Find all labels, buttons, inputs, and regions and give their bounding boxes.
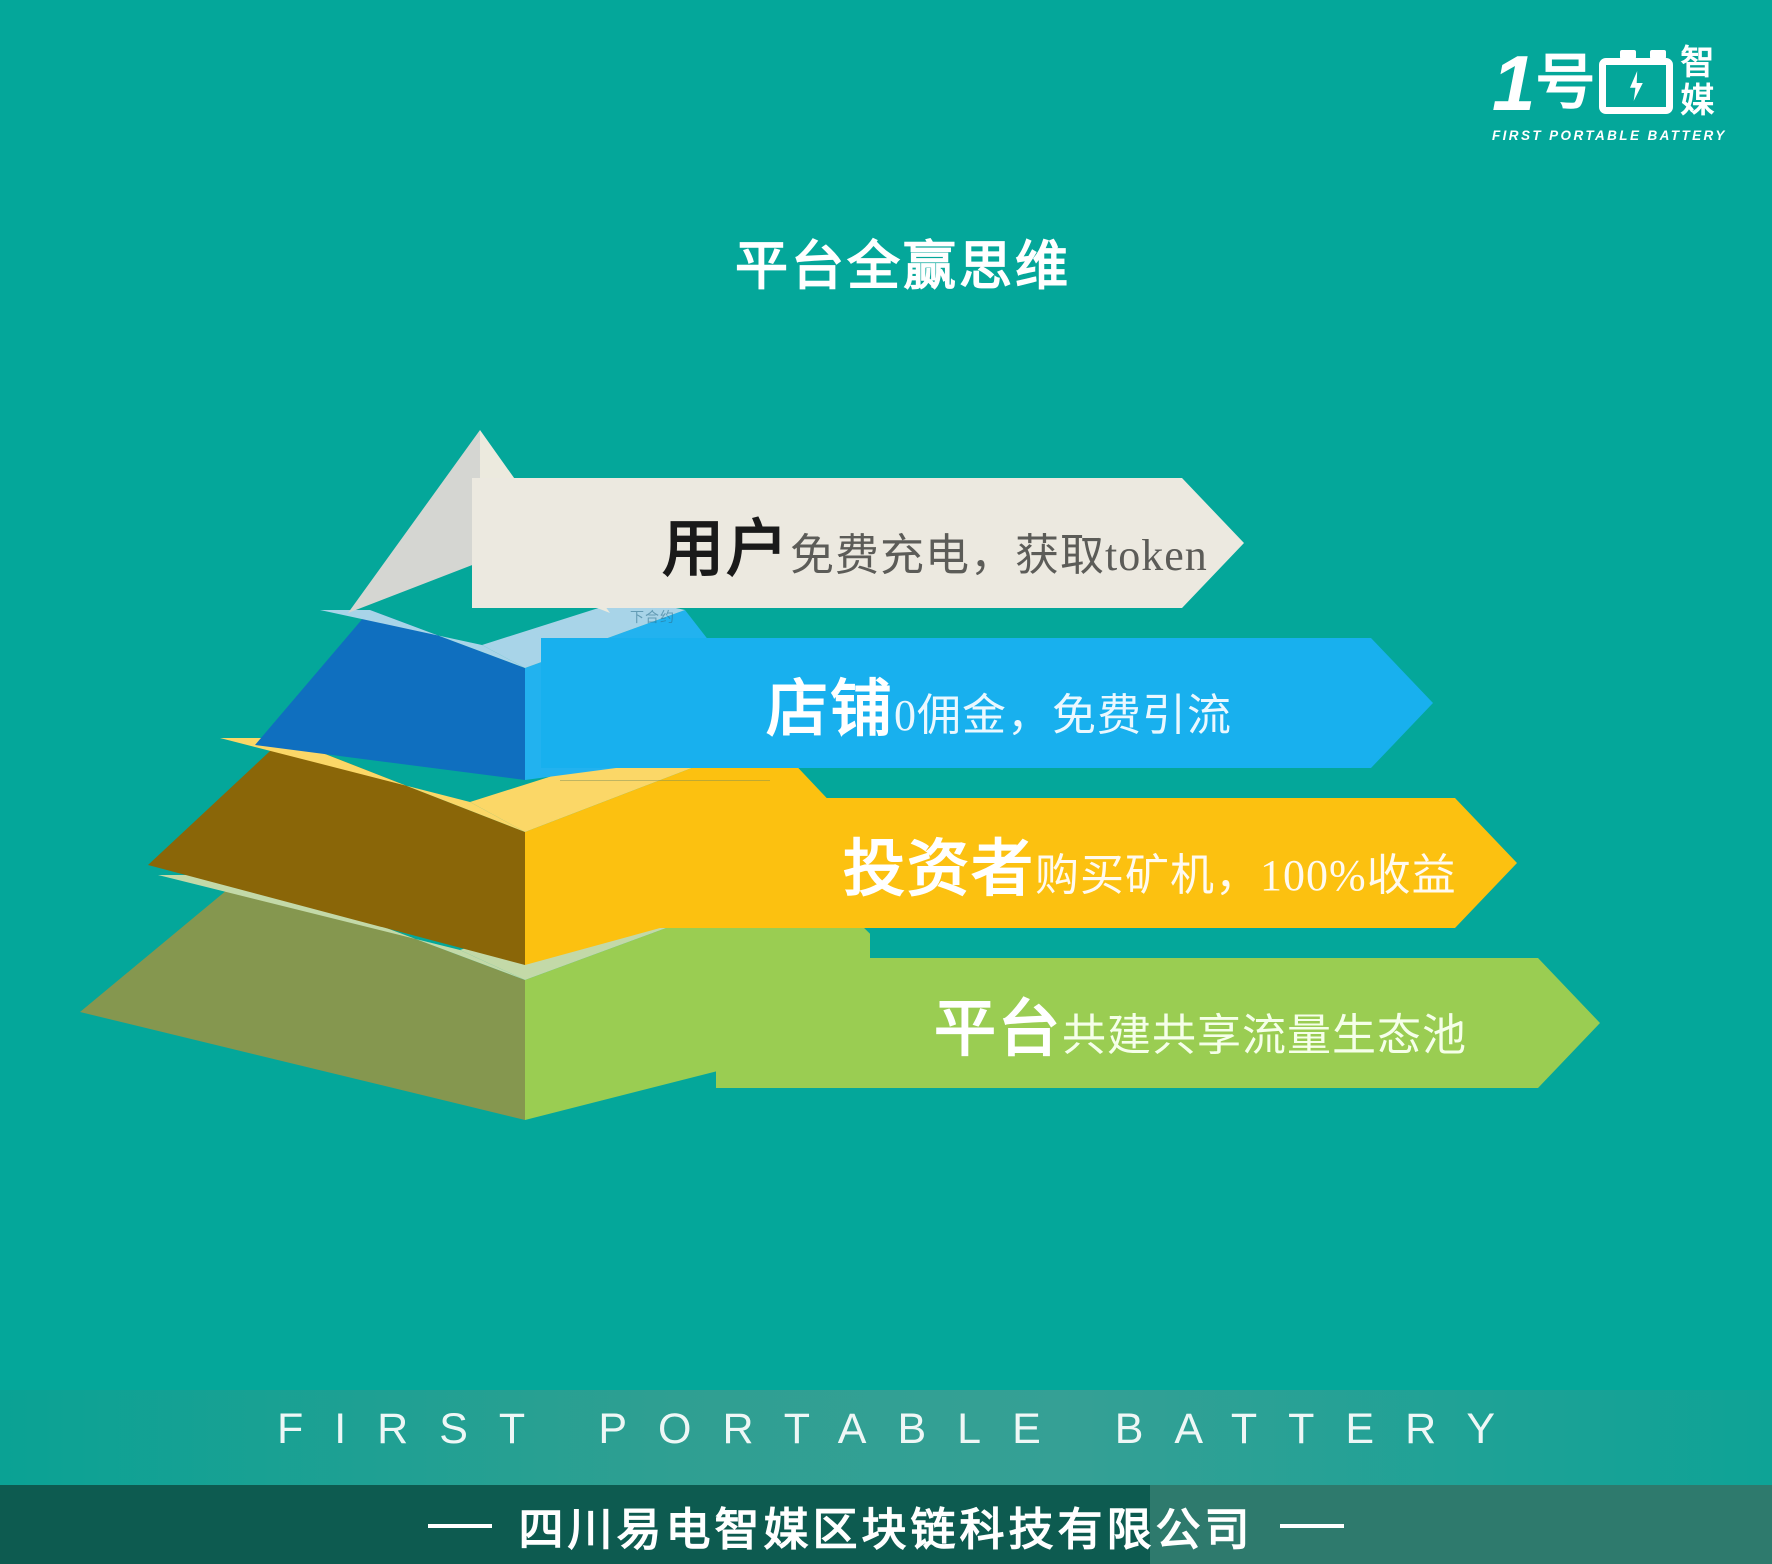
logo-mark-row: 1 号 智 媒 [1492, 46, 1722, 124]
bolt-icon [1628, 71, 1644, 101]
page-title: 平台全赢思维 [735, 224, 1071, 300]
level-banner-platform-text: 平台 共建共享流量生态池 [934, 978, 1467, 1068]
level-detail-shop: 0佣金，免费引流 [894, 679, 1232, 743]
slide-canvas: 1 号 智 媒 FIRST PORTABLE BATTERY 平台全赢思维 [0, 0, 1772, 1564]
divider-right [1280, 1524, 1344, 1528]
pyramid-artifact-line [560, 780, 770, 781]
level-banner-platform[interactable]: 平台 共建共享流量生态池 [716, 958, 1600, 1088]
level-banner-investor[interactable]: 投资者 购买矿机，100%收益 [628, 798, 1517, 928]
level-label-investor: 投资者 [843, 818, 1035, 908]
level-detail-investor: 购买矿机，100%收益 [1035, 839, 1457, 903]
logo-tagline: FIRST PORTABLE BATTERY [1492, 128, 1722, 143]
logo-char-hao: 号 [1535, 46, 1595, 120]
logo-char-zhi: 智 [1680, 44, 1714, 82]
level-banner-shop[interactable]: 店铺 0佣金，免费引流 [541, 638, 1433, 768]
brand-logo: 1 号 智 媒 FIRST PORTABLE BATTERY [1492, 46, 1722, 156]
level-label-shop: 店铺 [766, 658, 894, 748]
pyramid-apex-left-face [348, 430, 480, 613]
company-name: 四川易电智媒区块链科技有限公司 [518, 1493, 1253, 1558]
divider-left [428, 1524, 492, 1528]
level-detail-platform: 共建共享流量生态池 [1062, 999, 1467, 1063]
level-banner-user-text: 用户 免费充电，获取token [662, 498, 1208, 588]
footer-tagline: FIRST PORTABLE BATTERY [0, 1405, 1772, 1454]
level-detail-user: 免费充电，获取token [790, 519, 1208, 583]
pyramid-artifact-text: 下合约 [630, 607, 675, 627]
logo-numeral: 1 [1492, 46, 1533, 120]
battery-bolt-icon [1599, 58, 1673, 114]
level-label-platform: 平台 [934, 978, 1062, 1068]
logo-zhimei-stack: 智 媒 [1680, 44, 1714, 120]
level-label-user: 用户 [662, 498, 790, 588]
footer-company-row: 四川易电智媒区块链科技有限公司 [0, 1493, 1772, 1558]
level-banner-investor-text: 投资者 购买矿机，100%收益 [843, 818, 1457, 908]
level-banner-user[interactable]: 用户 免费充电，获取token [472, 478, 1244, 608]
logo-char-mei: 媒 [1680, 82, 1714, 120]
level-banner-shop-text: 店铺 0佣金，免费引流 [766, 658, 1232, 748]
